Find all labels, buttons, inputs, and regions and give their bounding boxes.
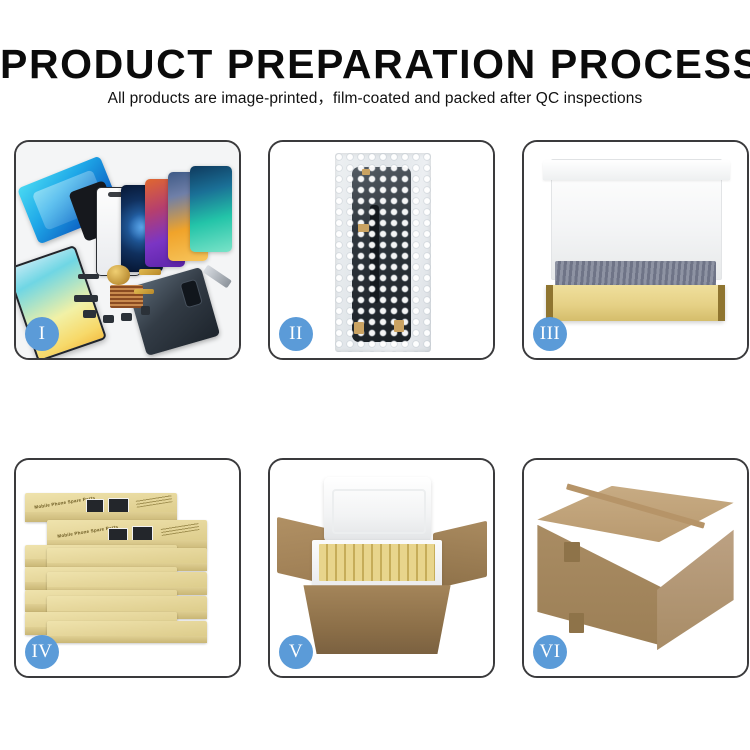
step-badge-4: IV (25, 635, 59, 669)
flex-cable-1-icon (139, 269, 161, 274)
part-chip-6-icon (141, 306, 150, 315)
process-step-card-3[interactable]: III (522, 140, 749, 360)
foam-box-lid-icon (324, 477, 431, 542)
kraft-box-edge-11 (47, 636, 207, 644)
process-step-card-4[interactable]: Mobile Phone Spare Parts Mobile Phone Sp… (14, 458, 241, 678)
kraft-box-spec-text-2 (161, 522, 200, 536)
part-chip-5-icon (121, 313, 132, 322)
part-chip-3-icon (83, 310, 96, 318)
process-step-card-5[interactable]: V (268, 458, 495, 678)
tape-strip-4-icon (394, 320, 404, 332)
kraft-box-layer-11 (47, 621, 207, 643)
carton-tab-bottom-icon (569, 613, 585, 632)
part-chip-1-icon (78, 274, 98, 279)
screwdriver-tool-icon (203, 264, 232, 287)
process-row-2: Mobile Phone Spare Parts Mobile Phone Sp… (14, 458, 750, 682)
page-subtitle: All products are image-printed，film-coat… (0, 88, 750, 110)
bubble-texture-icon (335, 153, 431, 352)
tape-strip-1-icon (362, 169, 371, 175)
step-badge-6: VI (533, 635, 567, 669)
process-step-card-1[interactable]: I (14, 140, 241, 360)
carton-top-face-icon (537, 486, 733, 542)
outer-carton-icon (303, 585, 450, 654)
part-chip-2-icon (74, 295, 99, 301)
part-chip-4-icon (103, 315, 114, 324)
step-badge-3: III (533, 317, 567, 351)
process-step-card-6[interactable]: VI (522, 458, 749, 678)
kraft-box-top-back: Mobile Phone Spare Parts (25, 493, 177, 522)
process-step-card-2[interactable]: II (268, 140, 495, 360)
phone-teal-screen-icon (190, 166, 232, 252)
tape-strip-3-icon (354, 322, 365, 334)
process-step-grid: I II (14, 140, 750, 682)
speaker-component-icon (107, 265, 129, 284)
tape-strip-2-icon (358, 224, 370, 232)
carton-front-face-icon (537, 525, 662, 646)
kraft-box-stack-icon: Mobile Phone Spare Parts Mobile Phone Sp… (25, 486, 230, 659)
step-badge-5: V (279, 635, 313, 669)
product-preparation-infographic: PRODUCT PREPARATION PROCESS All products… (0, 0, 750, 750)
step-badge-1: I (25, 317, 59, 351)
kraft-tray-box-icon (546, 285, 724, 322)
step-badge-2: II (279, 317, 313, 351)
carton-tab-top-icon (564, 542, 580, 561)
inner-kraft-boxes-icon (319, 544, 435, 581)
process-row-1: I II (14, 140, 750, 364)
kraft-box-spec-text-1 (135, 494, 172, 507)
flex-cable-2-icon (134, 289, 154, 294)
page-title: PRODUCT PREPARATION PROCESS (0, 40, 750, 88)
bubble-wrap-bag-icon (335, 153, 431, 352)
